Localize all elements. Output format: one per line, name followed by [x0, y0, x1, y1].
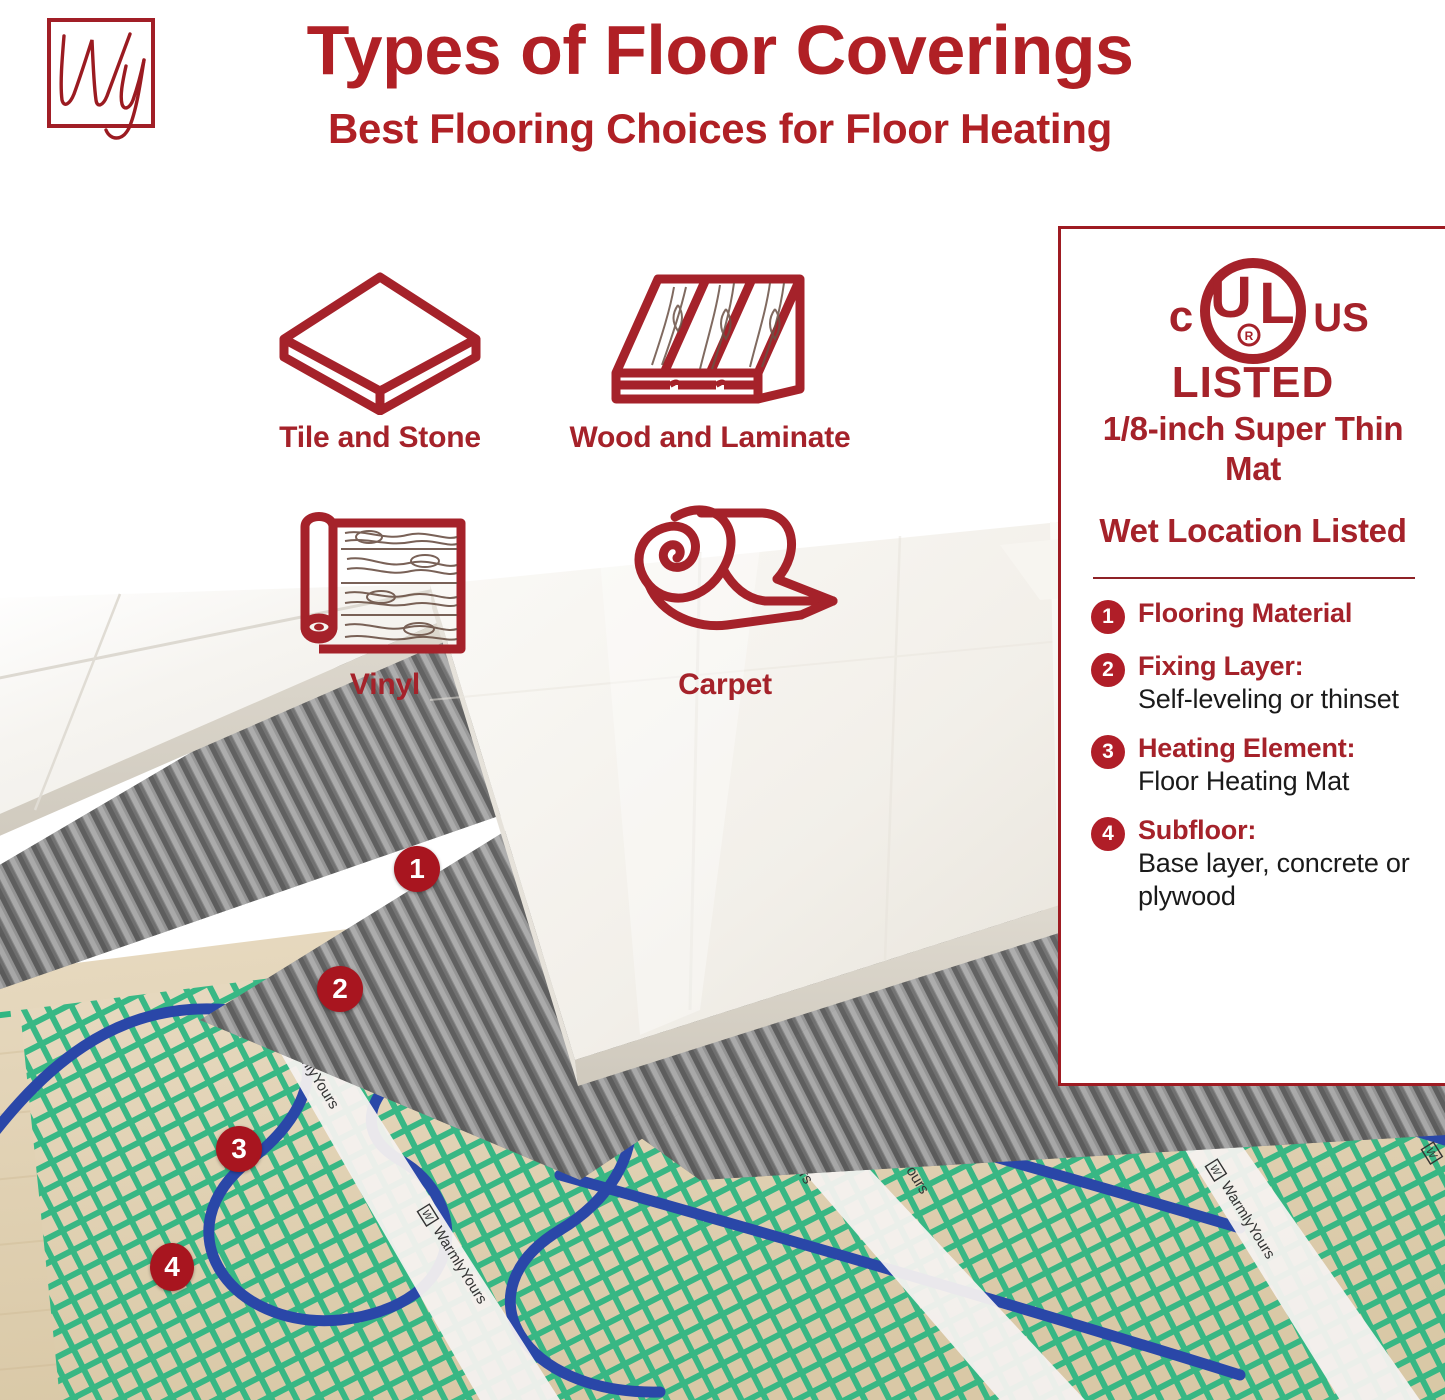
legend-title-3: Heating Element: [1138, 732, 1425, 765]
legend-sub-2: Self-leveling or thinset [1138, 683, 1425, 716]
svg-text:R: R [1245, 329, 1254, 343]
svg-text:U: U [1210, 265, 1252, 330]
photo-marker-4: 4 [150, 1243, 194, 1291]
panel-divider [1093, 577, 1415, 579]
legend-text-4: Subfloor: Base layer, concrete or plywoo… [1138, 814, 1425, 913]
legend-sub-4: Base layer, concrete or plywood [1138, 847, 1425, 913]
page-header: Types of Floor Coverings Best Flooring C… [0, 0, 1445, 190]
certification-panel: U L R c US LISTED 1/8-inch Super Thin Ma… [1058, 226, 1445, 1086]
page-subtitle: Best Flooring Choices for Floor Heating [190, 104, 1250, 154]
legend-item-2: 2 Fixing Layer: Self-leveling or thinset [1091, 650, 1425, 716]
covering-label: Carpet [570, 668, 880, 702]
infographic-canvas: W WarmlyYours W WarmlyYours W WarmlyYour… [0, 0, 1445, 1400]
covering-carpet: Carpet [570, 497, 880, 702]
legend-title-2: Fixing Layer: [1138, 650, 1425, 683]
carpet-roll-icon [605, 497, 845, 662]
layer-legend-list: 1 Flooring Material 2 Fixing Layer: Self… [1091, 597, 1425, 913]
panel-heading-thin-mat: 1/8-inch Super Thin Mat [1089, 409, 1417, 489]
photo-marker-1: 1 [394, 846, 440, 892]
svg-text:US: US [1313, 296, 1369, 340]
covering-wood-and-laminate: Wood and Laminate [540, 265, 880, 455]
svg-text:LISTED: LISTED [1172, 358, 1334, 405]
svg-text:L: L [1259, 271, 1294, 336]
panel-heading-wet-location: Wet Location Listed [1089, 511, 1417, 551]
photo-marker-2: 2 [317, 966, 363, 1012]
legend-title-4: Subfloor: [1138, 814, 1425, 847]
legend-badge-1: 1 [1091, 600, 1125, 634]
legend-title-1: Flooring Material [1138, 597, 1425, 630]
photo-marker-3: 3 [216, 1126, 262, 1172]
covering-label: Tile and Stone [230, 421, 530, 455]
page-title: Types of Floor Coverings [190, 8, 1250, 92]
legend-item-1: 1 Flooring Material [1091, 597, 1425, 634]
covering-label: Wood and Laminate [540, 421, 880, 455]
legend-item-3: 3 Heating Element: Floor Heating Mat [1091, 732, 1425, 798]
ul-mark-wrap: U L R c US LISTED [1061, 255, 1445, 405]
legend-badge-4: 4 [1091, 817, 1125, 851]
floor-covering-icon-grid: Tile and Stone [210, 265, 930, 730]
wood-plank-icon [600, 265, 820, 415]
legend-sub-3: Floor Heating Mat [1138, 765, 1425, 798]
covering-tile-and-stone: Tile and Stone [230, 265, 530, 455]
legend-text-3: Heating Element: Floor Heating Mat [1138, 732, 1425, 798]
covering-label: Vinyl [250, 668, 520, 702]
svg-text:c: c [1169, 292, 1193, 341]
legend-item-4: 4 Subfloor: Base layer, concrete or plyw… [1091, 814, 1425, 913]
cul-us-listed-mark-icon: U L R c US LISTED [1123, 255, 1383, 405]
legend-badge-3: 3 [1091, 735, 1125, 769]
legend-text-1: Flooring Material [1138, 597, 1425, 630]
tile-diamond-icon [268, 265, 493, 415]
vinyl-roll-icon [285, 497, 485, 662]
logo-frame [47, 18, 155, 128]
legend-text-2: Fixing Layer: Self-leveling or thinset [1138, 650, 1425, 716]
legend-badge-2: 2 [1091, 653, 1125, 687]
covering-vinyl: Vinyl [250, 497, 520, 702]
